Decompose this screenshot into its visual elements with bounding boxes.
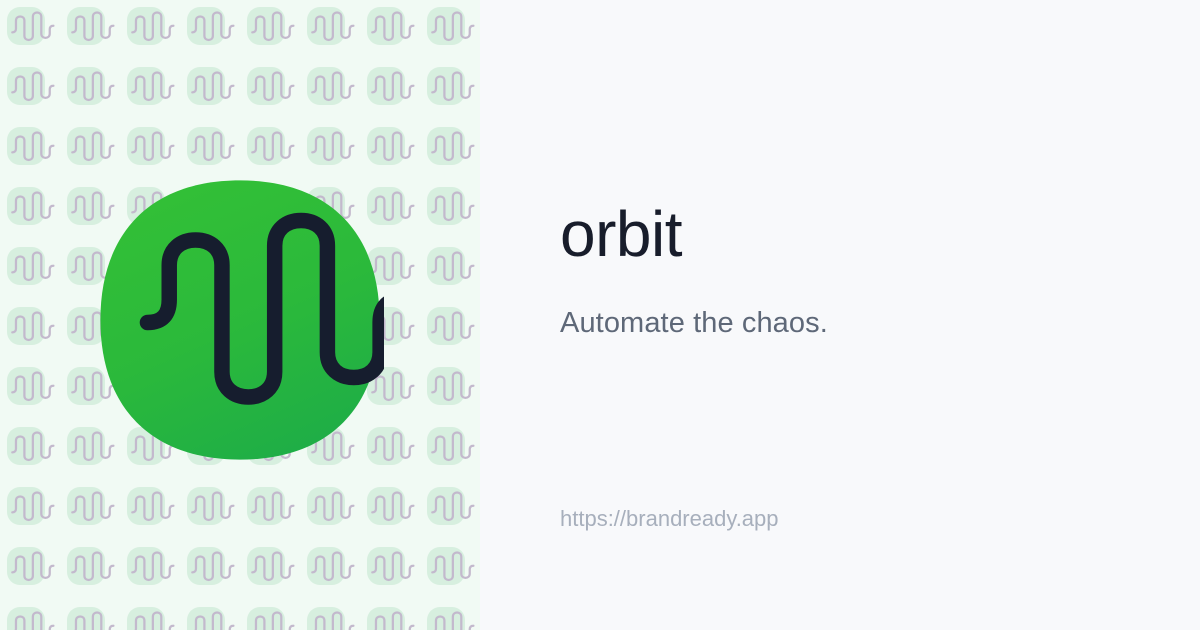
page-title: orbit: [560, 202, 828, 266]
brand-panel: [0, 0, 480, 630]
info-panel: orbit Automate the chaos. https://brandr…: [480, 0, 1200, 630]
brand-preview-card: orbit Automate the chaos. https://brandr…: [0, 0, 1200, 630]
brand-tagline: Automate the chaos.: [560, 266, 828, 341]
orbit-logo-squircle: [96, 176, 384, 464]
brand-text-block: orbit Automate the chaos.: [560, 202, 828, 341]
brand-url[interactable]: https://brandready.app: [560, 505, 779, 534]
